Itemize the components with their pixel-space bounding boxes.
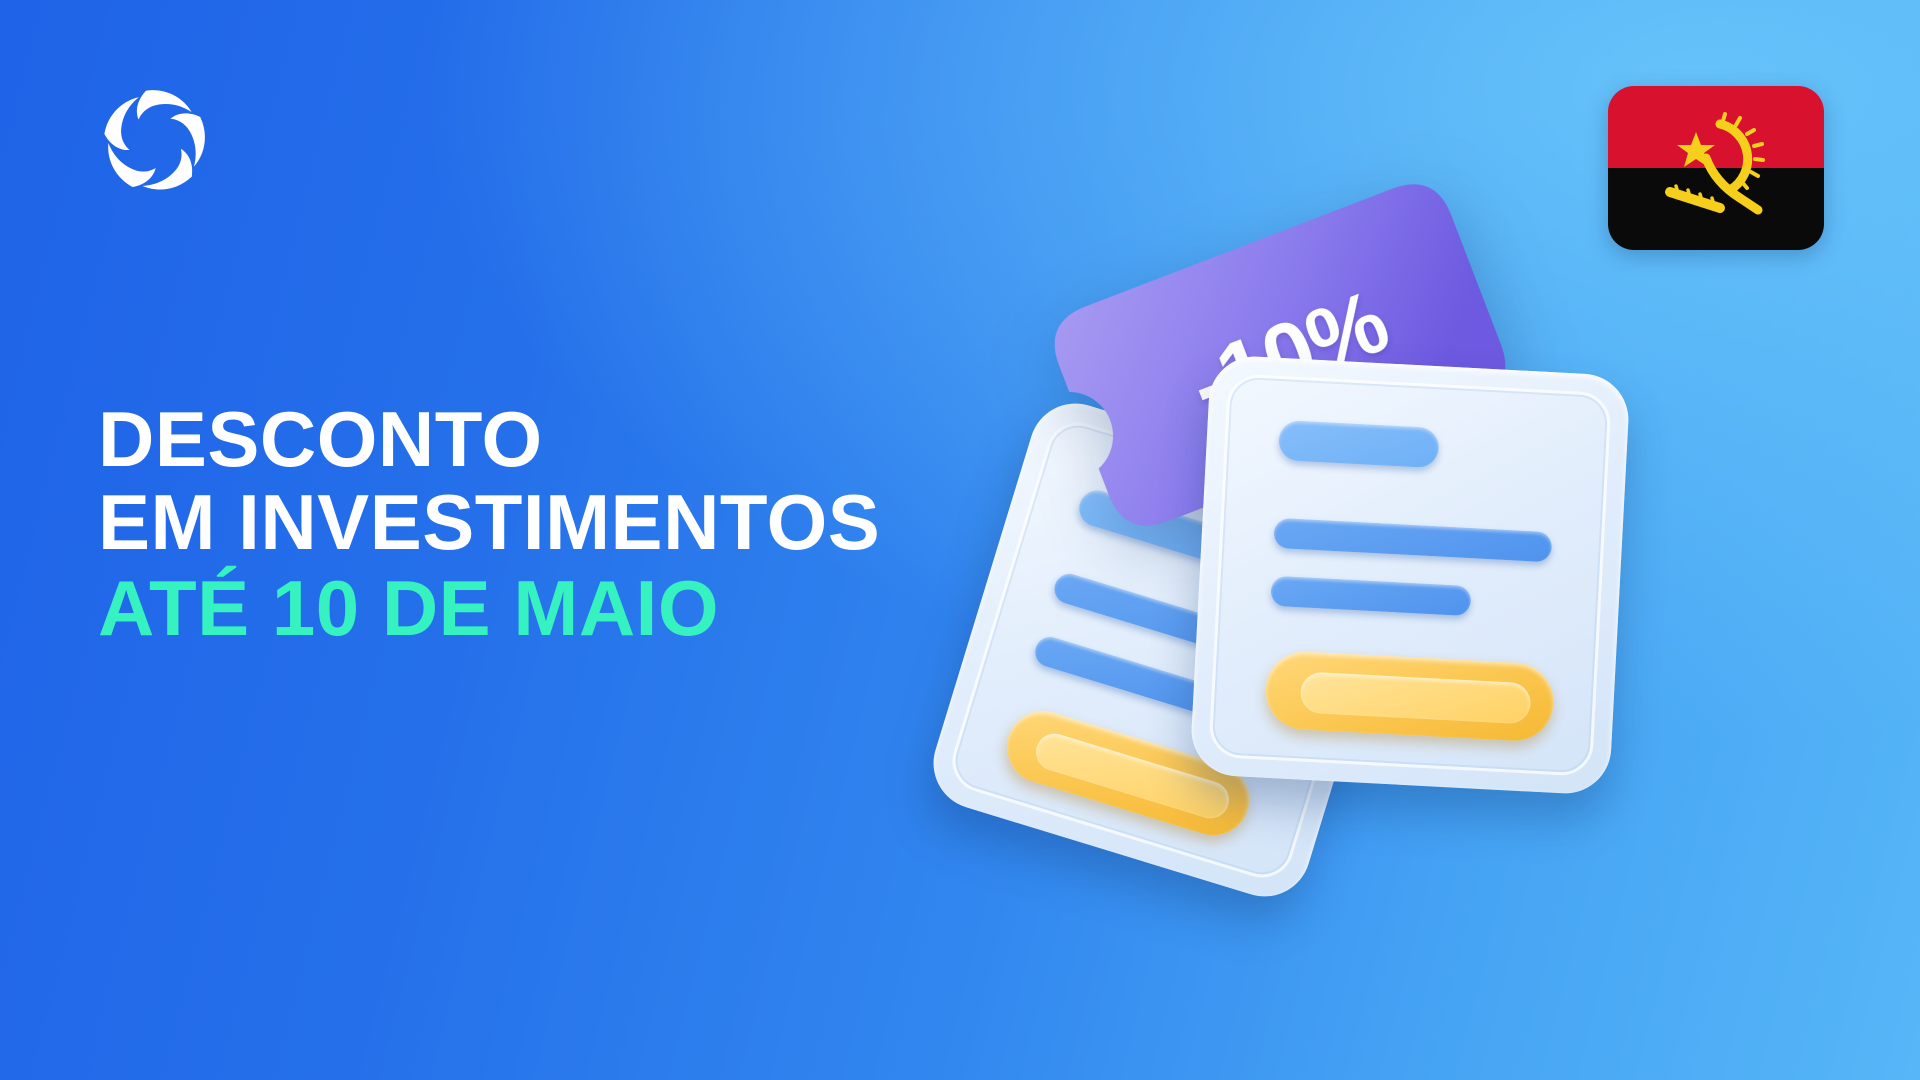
promo-banner: DESCONTO EM INVESTIMENTOS ATÉ 10 DE MAIO [0, 0, 1920, 1080]
brand-logo[interactable] [92, 78, 218, 204]
card-action-button-inner [1299, 672, 1531, 725]
pinwheel-ring-logo-icon [92, 78, 218, 204]
card-title-pill [1278, 420, 1440, 468]
card-text-pill-long [1273, 518, 1552, 563]
card-text-pill-short [1270, 576, 1471, 616]
document-card-front [1189, 354, 1630, 795]
headline-line-3: ATÉ 10 DE MAIO [98, 567, 1098, 650]
promo-illustration: -10% [1030, 230, 1890, 930]
flag-emblem-icon [1608, 86, 1824, 250]
headline-line-2: EM INVESTIMENTOS [98, 481, 1098, 564]
headline-block: DESCONTO EM INVESTIMENTOS ATÉ 10 DE MAIO [98, 398, 1098, 650]
card-action-button[interactable] [1264, 650, 1556, 743]
headline-line-1: DESCONTO [98, 398, 1098, 481]
angola-flag[interactable] [1608, 86, 1824, 250]
